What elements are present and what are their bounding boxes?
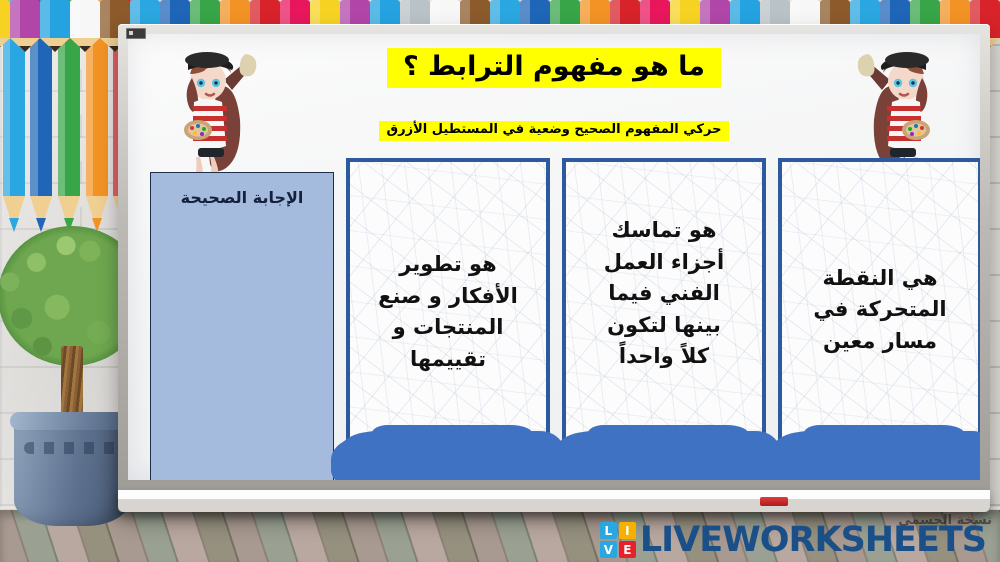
option-card-2-dropzone[interactable] [552,432,776,480]
correct-answer-dropzone[interactable]: الإجابة الصحيحة [150,172,334,480]
option-card-2-text: هو تماسك أجزاء العمل الفني فيما بينها لت… [594,215,734,373]
option-card-3[interactable]: هو تطوير الأفكار و صنع المنتجات و تقييمه… [346,158,550,480]
logo-letter-v: V [600,541,617,558]
plant-pot [14,416,130,526]
worksheet-page: ما هو مفهوم الترابط ؟ حركي المفهوم الصحي… [0,0,1000,562]
whiteboard-surface: ما هو مفهوم الترابط ؟ حركي المفهوم الصحي… [128,34,980,480]
pencil-34 [0,0,10,58]
red-marker [760,497,788,506]
page-subtitle-text: حركي المفهوم الصحيح وضعية في المستطيل ال… [379,121,730,141]
option-cards: هي النقطة المتحركة في مسار معين هو تماسك… [346,158,980,480]
option-card-1-text: هي النقطة المتحركة في مسار معين [803,263,956,358]
logo-letter-e: E [619,541,636,558]
option-card-3-text: هو تطوير الأفكار و صنع المنتجات و تقييمه… [368,249,528,375]
option-card-2[interactable]: هو تماسك أجزاء العمل الفني فيما بينها لت… [562,158,766,480]
whiteboard-sensor-icon [126,28,146,39]
page-title-text: ما هو مفهوم الترابط ؟ [387,48,721,88]
pencil-31 [70,0,100,58]
pencil-33 [10,0,40,58]
whiteboard-frame: ما هو مفهوم الترابط ؟ حركي المفهوم الصحي… [118,24,990,512]
artist-girl-left-icon [162,50,258,176]
pencil-32 [40,0,70,58]
logo-letter-l: L [600,522,617,539]
option-card-1-dropzone[interactable] [768,432,980,480]
correct-answer-label: الإجابة الصحيحة [163,187,321,209]
liveworksheets-logo-icon: LIVE [600,522,636,558]
liveworksheets-watermark: LIVE LIVEWORKSHEETS [600,520,986,560]
logo-letter-i: I [619,522,636,539]
option-card-1[interactable]: هي النقطة المتحركة في مسار معين [778,158,980,480]
option-card-3-dropzone[interactable] [336,432,560,480]
whiteboard-tray [118,490,990,512]
liveworksheets-brand-text: LIVEWORKSHEETS [640,520,986,560]
